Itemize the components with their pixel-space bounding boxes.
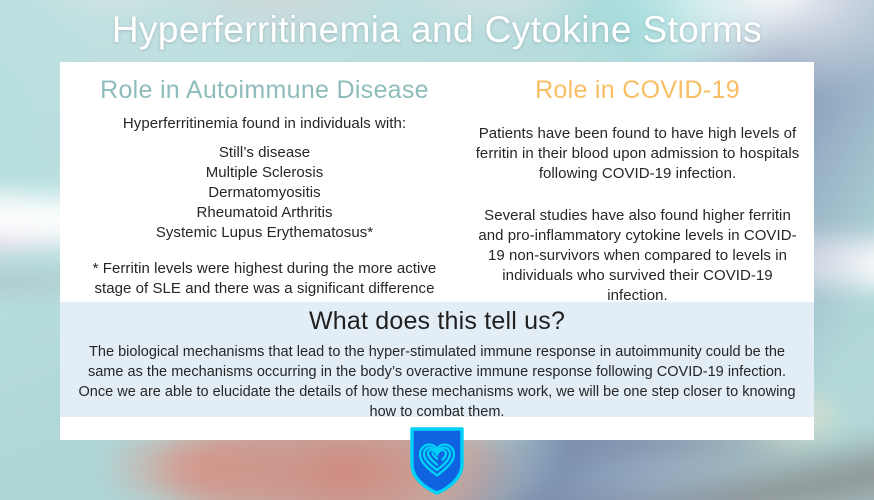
- two-column-layout: Role in Autoimmune Disease Hyperferritin…: [60, 62, 814, 302]
- conclusion-heading: What does this tell us?: [74, 307, 800, 337]
- list-item: Multiple Sclerosis: [78, 163, 451, 183]
- covid-paragraph-1: Patients have been found to have high le…: [471, 124, 804, 184]
- condition-list: Still’s disease Multiple Sclerosis Derma…: [78, 143, 451, 243]
- slide-title-container: Hyperferritinemia and Cytokine Storms: [0, 8, 874, 52]
- list-item: Still’s disease: [78, 143, 451, 163]
- conclusion-section: What does this tell us? The biological m…: [60, 302, 814, 417]
- autoimmune-intro-text: Hyperferritinemia found in individuals w…: [78, 114, 451, 134]
- list-item: Dermatomyositis: [78, 183, 451, 203]
- conclusion-body-text: The biological mechanisms that lead to t…: [74, 342, 800, 422]
- autoimmune-heading: Role in Autoimmune Disease: [78, 76, 451, 105]
- slide-canvas: Hyperferritinemia and Cytokine Storms Ro…: [0, 0, 874, 500]
- logo: [409, 426, 465, 496]
- list-item: Rheumatoid Arthritis: [78, 203, 451, 223]
- slide-title: Hyperferritinemia and Cytokine Storms: [112, 9, 762, 50]
- list-item: Systemic Lupus Erythematosus*: [78, 223, 451, 243]
- shield-heart-logo-icon: [409, 426, 465, 496]
- covid-paragraph-2: Several studies have also found higher f…: [471, 206, 804, 306]
- column-autoimmune-disease: Role in Autoimmune Disease Hyperferritin…: [60, 62, 463, 302]
- covid-heading: Role in COVID-19: [471, 76, 804, 105]
- column-covid-19: Role in COVID-19 Patients have been foun…: [463, 62, 814, 302]
- content-panel: Role in Autoimmune Disease Hyperferritin…: [60, 62, 814, 440]
